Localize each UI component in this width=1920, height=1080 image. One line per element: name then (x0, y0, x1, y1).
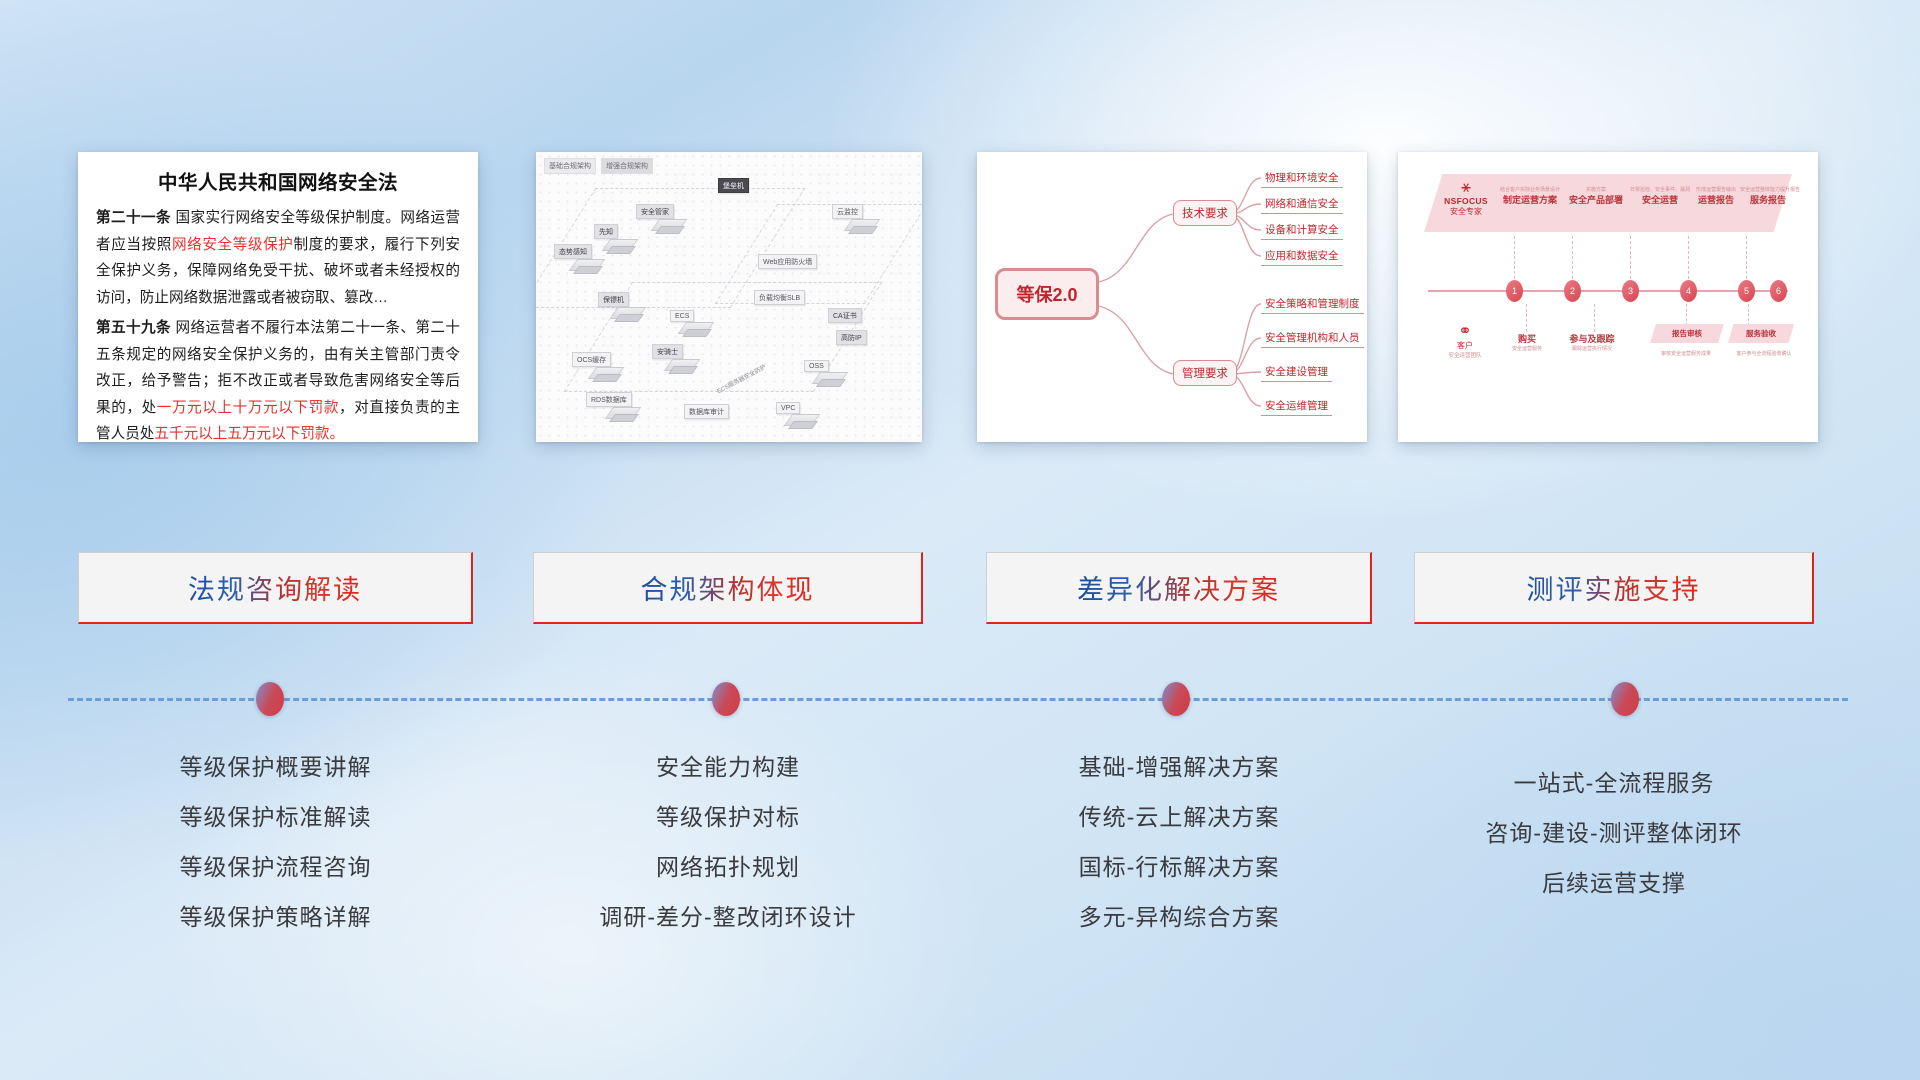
list-item: 调研-差分-整改闭环设计 (533, 892, 923, 942)
law-article-59: 第五十九条 网络运营者不履行本法第二十一条、第二十五条规定的网络安全保护义务的，… (96, 315, 460, 442)
customer-person-icon: ⚭ (1434, 324, 1496, 340)
mindmap-leaf-construction-mgmt: 安全建设管理 (1261, 364, 1332, 382)
list-regulation-consulting: 等级保护概要讲解 等级保护标准解读 等级保护流程咨询 等级保护策略详解 (78, 742, 473, 942)
law-article-21: 第二十一条 国家实行网络安全等级保护制度。网络运营者应当按照网络安全等级保护制度… (96, 205, 460, 311)
mindmap-leaf-device-compute: 设备和计算安全 (1261, 222, 1343, 240)
mindmap-leaf-physical-env: 物理和环境安全 (1261, 170, 1343, 188)
article-59-highlight-2: 五千元以上五万元以下罚款。 (154, 426, 344, 442)
list-item: 咨询-建设-测评整体闭环 (1414, 808, 1814, 858)
node-ecs: ECS (670, 310, 694, 322)
customer-review-title: 报告审核 (1656, 328, 1718, 339)
node-oss: OSS (804, 360, 829, 372)
plate-regulation-consulting[interactable]: 法规咨询解读 (78, 552, 473, 624)
card-law-text: 中华人民共和国网络安全法 第二十一条 国家实行网络安全等级保护制度。网络运营者应… (78, 152, 478, 442)
connector-5 (1746, 236, 1747, 284)
timeline-dashed-line (68, 698, 1848, 701)
node-security-butler: 安全管家 (636, 204, 674, 219)
article-59-label: 第五十九条 (96, 320, 171, 336)
list-item: 等级保护流程咨询 (78, 842, 473, 892)
connector-c1 (1526, 304, 1527, 332)
person-star-icon: ⚹ (1436, 180, 1496, 196)
card-mindmap: 等保2.0 技术要求 管理要求 物理和环境安全 网络和通信安全 设备和计算安全 … (977, 152, 1367, 442)
timeline-node-1: 1 (1506, 280, 1523, 302)
plate-label-2: 合规架构体现 (641, 568, 815, 607)
poster-stage: 中华人民共和国网络安全法 第二十一条 国家实行网络安全等级保护制度。网络运营者应… (0, 0, 1920, 1080)
article-21-label: 第二十一条 (96, 210, 171, 226)
timeline-axis (1428, 290, 1788, 292)
article-59-highlight-1: 一万元以上十万元以下罚款 (157, 400, 339, 416)
customer-step-3-note: 审核安全运营服务成果 (1644, 350, 1728, 357)
node-vpc: VPC (776, 402, 800, 414)
plate-evaluation-support[interactable]: 测评实施支持 (1414, 552, 1814, 624)
card-network-architecture: 基础合规架构 增强合规架构 堡垒机 安全管家 先知 态 (536, 152, 922, 442)
card-row: 中华人民共和国网络安全法 第二十一条 国家实行网络安全等级保护制度。网络运营者应… (0, 0, 1920, 440)
list-item: 后续运营支撑 (1414, 858, 1814, 908)
list-item: 等级保护策略详解 (78, 892, 473, 942)
list-item: 多元-异构综合方案 (986, 892, 1372, 942)
connector-1 (1514, 236, 1515, 284)
customer-step-2: 参与及跟踪 跟踪运营执行情况 (1556, 332, 1628, 352)
customer-accept-tag: 服务验收 (1728, 324, 1794, 343)
connector-2 (1572, 236, 1573, 284)
node-ocs-cache: OCS缓存 (572, 352, 611, 367)
mindmap-branch-management: 管理要求 (1173, 360, 1237, 386)
expert-sub: 安全专家 (1436, 206, 1496, 217)
connector-c4 (1748, 304, 1749, 326)
list-item: 等级保护标准解读 (78, 792, 473, 842)
plate-differentiated-solution[interactable]: 差异化解决方案 (986, 552, 1372, 624)
connector-c3 (1686, 304, 1687, 326)
mindmap-leaf-policy-system: 安全策略和管理制度 (1261, 296, 1364, 314)
expert-name: NSFOCUS (1436, 196, 1496, 206)
node-guard-machine: 保镖机 (598, 292, 629, 307)
timeline-node-5: 5 (1738, 280, 1755, 302)
network-diagram: 基础合规架构 增强合规架构 堡垒机 安全管家 先知 态 (536, 152, 922, 442)
list-item: 等级保护对标 (533, 792, 923, 842)
node-rds: RDS数据库 (586, 392, 632, 407)
node-ca-cert: CA证书 (828, 308, 862, 323)
list-differentiated-solution: 基础-增强解决方案 传统-云上解决方案 国标-行标解决方案 多元-异构综合方案 (986, 742, 1372, 942)
node-cloud-monitor: 云监控 (832, 204, 863, 219)
customer-review-tag: 报告审核 (1650, 324, 1724, 343)
step-3: 日常巡检、安全事件、漏洞 安全运营 (1630, 186, 1690, 206)
plate-compliance-architecture[interactable]: 合规架构体现 (533, 552, 923, 624)
architecture-tabs: 基础合规架构 增强合规架构 (544, 158, 653, 174)
timeline-node-3: 3 (1622, 280, 1639, 302)
mindmap: 等保2.0 技术要求 管理要求 物理和环境安全 网络和通信安全 设备和计算安全 … (977, 152, 1367, 442)
connector-4 (1688, 236, 1689, 284)
list-item: 等级保护概要讲解 (78, 742, 473, 792)
nsfocus-diagram: ⚹ NSFOCUS 安全专家 结合客户实际业务场景设计 制定运营方案 实施方案 … (1398, 152, 1818, 442)
plate-label-3: 差异化解决方案 (1077, 568, 1280, 607)
customer-sub: 安全运营团队 (1434, 351, 1496, 359)
mindmap-leaf-org-personnel: 安全管理机构和人员 (1261, 330, 1364, 348)
customer-name: 客户 (1434, 340, 1496, 351)
mindmap-root: 等保2.0 (995, 268, 1099, 320)
article-21-highlight: 网络安全等级保护 (172, 237, 294, 253)
nsfocus-expert: ⚹ NSFOCUS 安全专家 (1436, 180, 1496, 217)
tab-basic-architecture[interactable]: 基础合规架构 (544, 158, 596, 174)
node-db-audit: 数据库审计 (684, 404, 729, 419)
timeline-node-2: 2 (1564, 280, 1581, 302)
list-compliance-architecture: 安全能力构建 等级保护对标 网络拓扑规划 调研-差分-整改闭环设计 (533, 742, 923, 942)
step-5: 安全运营整体能力提升报告 服务报告 (1740, 186, 1796, 206)
timeline-node-6: 6 (1770, 280, 1787, 302)
mindmap-leaf-ops-mgmt: 安全运维管理 (1261, 398, 1332, 416)
card-nsfocus-timeline: ⚹ NSFOCUS 安全专家 结合客户实际业务场景设计 制定运营方案 实施方案 … (1398, 152, 1818, 442)
timeline-dot-4 (1611, 682, 1639, 716)
customer-step-4-note: 客户参与全流程验收确认 (1722, 350, 1806, 357)
tab-enhanced-architecture[interactable]: 增强合规架构 (601, 158, 653, 174)
timeline-dot-3 (1162, 682, 1190, 716)
node-anti-ddos: 高防IP (836, 330, 867, 345)
node-slb: 负载均衡SLB (754, 290, 805, 305)
timeline-dot-1 (256, 682, 284, 716)
step-4: 形成运营报告输出 运营报告 (1688, 186, 1744, 206)
node-waf: Web应用防火墙 (758, 254, 817, 269)
list-evaluation-support: 一站式-全流程服务 咨询-建设-测评整体闭环 后续运营支撑 (1414, 758, 1814, 908)
timeline-dot-2 (712, 682, 740, 716)
mindmap-leaf-network-comm: 网络和通信安全 (1261, 196, 1343, 214)
list-item: 传统-云上解决方案 (986, 792, 1372, 842)
step-1: 结合客户实际业务场景设计 制定运营方案 (1498, 186, 1562, 206)
list-item: 国标-行标解决方案 (986, 842, 1372, 892)
customer-step-1: 购买 安全运营服务 (1502, 332, 1552, 352)
step-2: 实施方案 安全产品部署 (1566, 186, 1626, 206)
list-item: 基础-增强解决方案 (986, 742, 1372, 792)
law-title: 中华人民共和国网络安全法 (96, 166, 460, 195)
mindmap-leaf-app-data: 应用和数据安全 (1261, 248, 1343, 266)
node-xianzhi: 先知 (594, 224, 618, 239)
mindmap-branch-technical: 技术要求 (1173, 200, 1237, 226)
node-situational-awareness: 态势感知 (554, 244, 592, 259)
list-item: 网络拓扑规划 (533, 842, 923, 892)
plate-label-4: 测评实施支持 (1527, 568, 1701, 607)
connector-c2 (1594, 304, 1595, 332)
connector-3 (1630, 236, 1631, 284)
nsfocus-customer: ⚭ 客户 安全运营团队 (1434, 324, 1496, 359)
customer-accept-title: 服务验收 (1734, 328, 1788, 339)
list-item: 安全能力构建 (533, 742, 923, 792)
node-anqishi: 安骑士 (652, 344, 683, 359)
plate-label-1: 法规咨询解读 (188, 568, 362, 607)
law-body: 中华人民共和国网络安全法 第二十一条 国家实行网络安全等级保护制度。网络运营者应… (78, 152, 478, 442)
node-bastion: 堡垒机 (718, 178, 749, 193)
list-item: 一站式-全流程服务 (1414, 758, 1814, 808)
timeline-node-4: 4 (1680, 280, 1697, 302)
